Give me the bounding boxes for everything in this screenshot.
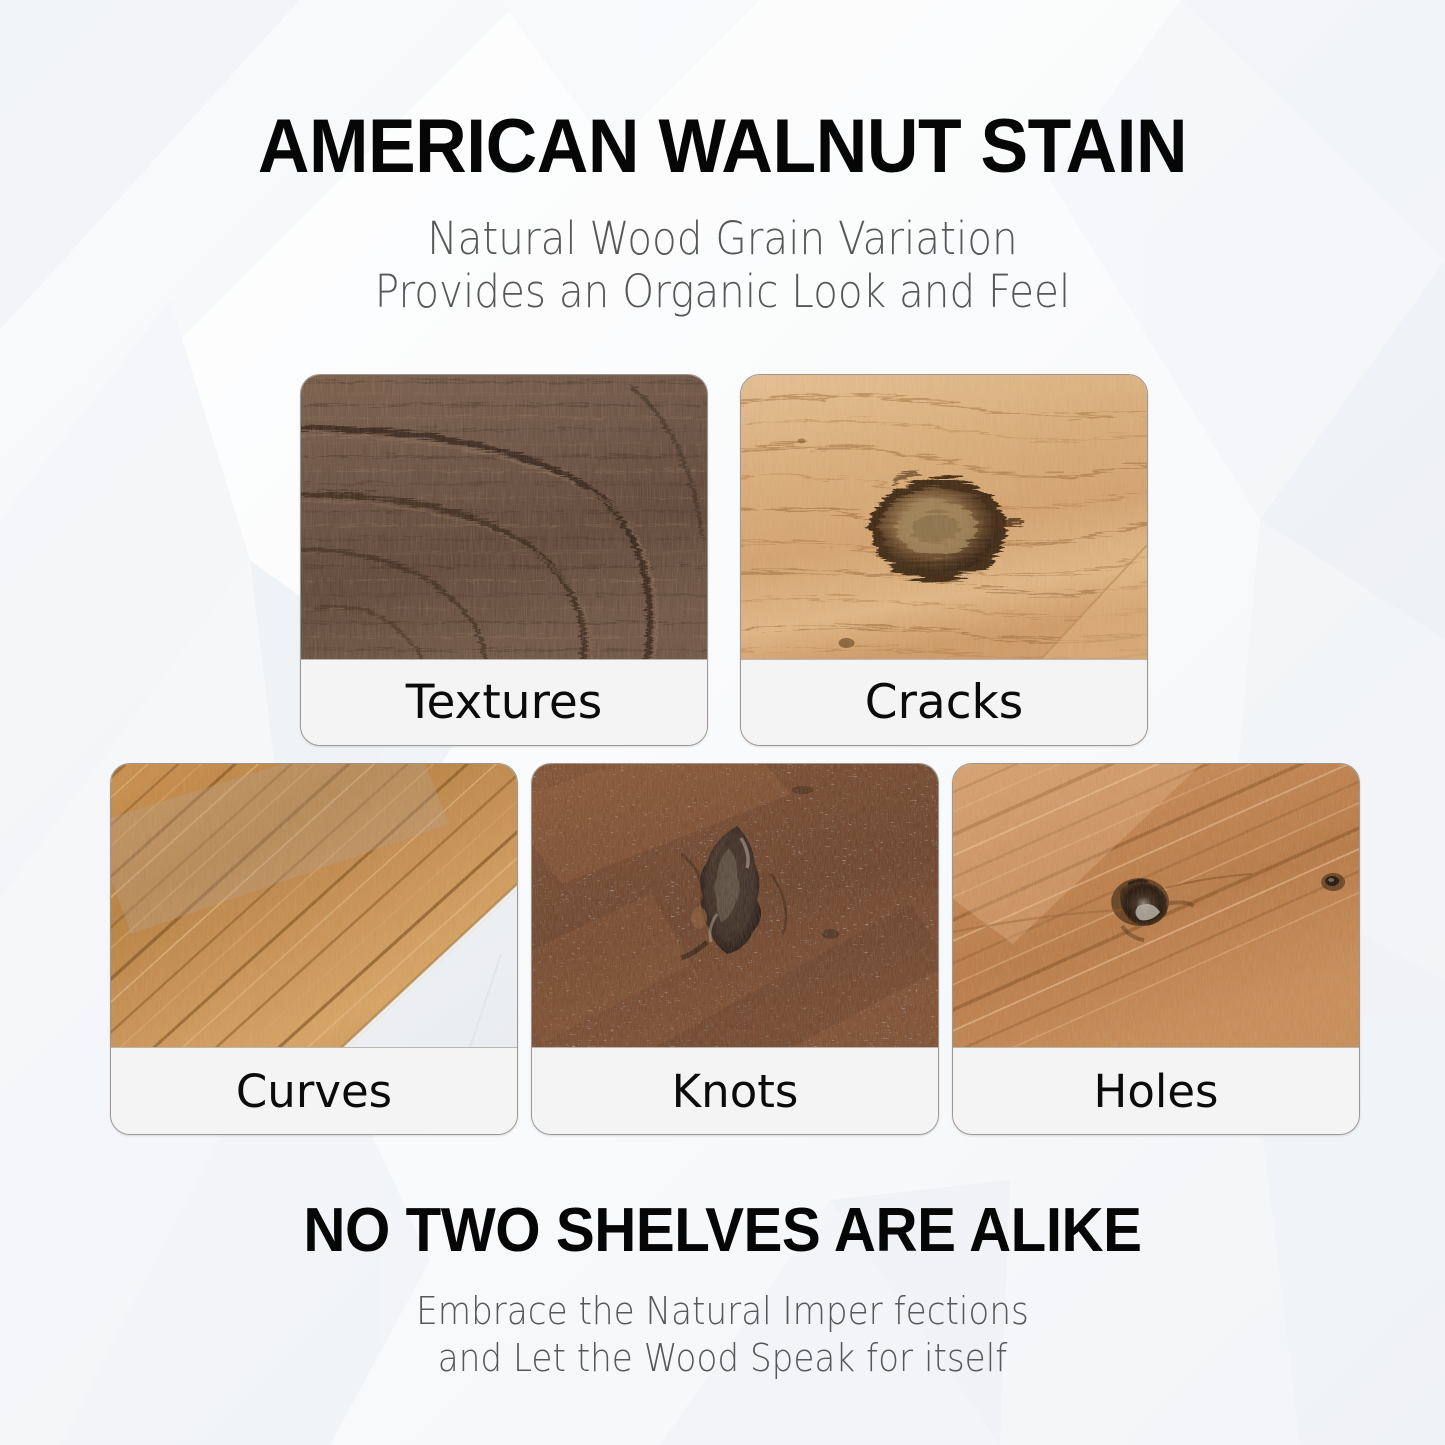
subtitle-top-line-1: Natural Wood Grain Variation <box>72 212 1373 265</box>
cracks-photo <box>741 375 1147 661</box>
card-label-textures: Textures <box>406 675 603 730</box>
feature-card-knots[interactable]: Knots <box>531 763 939 1135</box>
knots-photo <box>532 764 938 1049</box>
card-caption: Textures <box>301 659 707 745</box>
curves-photo <box>111 764 517 1049</box>
card-caption: Knots <box>532 1047 938 1134</box>
card-label-holes: Holes <box>1093 1065 1218 1118</box>
card-label-knots: Knots <box>672 1065 799 1118</box>
subtitle-top-line-2: Provides an Organic Look and Feel <box>72 265 1373 318</box>
feature-card-holes[interactable]: Holes <box>952 763 1360 1135</box>
card-label-cracks: Cracks <box>865 675 1024 730</box>
card-caption: Holes <box>953 1047 1359 1134</box>
card-caption: Curves <box>111 1047 517 1134</box>
textures-photo <box>301 375 707 661</box>
feature-card-cracks[interactable]: Cracks <box>740 374 1148 746</box>
card-caption: Cracks <box>741 659 1147 745</box>
feature-card-textures[interactable]: Textures <box>300 374 708 746</box>
page-title-bottom: NO TWO SHELVES ARE ALIKE <box>43 1195 1401 1267</box>
subtitle-bottom-line-2: and Let the Wood Speak for itself <box>72 1335 1373 1382</box>
page-title-top: AMERICAN WALNUT STAIN <box>43 104 1401 190</box>
page-subtitle-bottom: Embrace the Natural Imper fections and L… <box>72 1288 1373 1382</box>
feature-card-curves[interactable]: Curves <box>110 763 518 1135</box>
card-label-curves: Curves <box>236 1065 392 1118</box>
subtitle-bottom-line-1: Embrace the Natural Imper fections <box>72 1288 1373 1335</box>
holes-photo <box>953 764 1359 1049</box>
page-subtitle-top: Natural Wood Grain Variation Provides an… <box>72 212 1373 318</box>
